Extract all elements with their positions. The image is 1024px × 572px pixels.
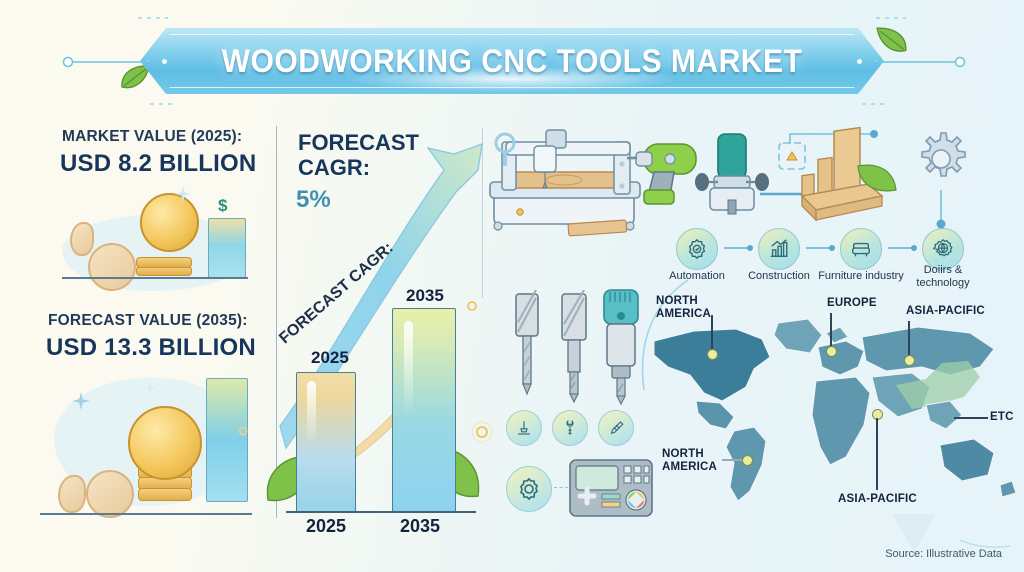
bar-label-2035: 2035 [406, 286, 444, 306]
app-arrow-2 [806, 247, 834, 249]
gear-icon [236, 424, 250, 438]
end-mill-bit-icon [508, 290, 548, 410]
currency-symbol: $ [218, 196, 227, 216]
gear-icon [492, 130, 518, 170]
world-map: NORTH AMERICA EUROPE ASIA-PACIFIC ETC NO… [650, 305, 1024, 520]
forecast-value-amount: USD 13.3 BILLION [46, 334, 256, 362]
cordless-drill-icon [624, 128, 704, 212]
connector-dash [554, 487, 568, 488]
map-label-etc: ETC [990, 411, 1014, 424]
pin-line-asia-pacific-bottom [876, 418, 878, 490]
axis-2025 [62, 277, 248, 279]
connector-line [932, 190, 952, 232]
app-arrow-1 [724, 247, 752, 249]
pin-north-america-bottom[interactable] [742, 455, 753, 466]
pin-asia-pacific-top[interactable] [904, 355, 915, 366]
map-label-europe: EUROPE [827, 297, 877, 310]
pin-line-asia-pacific-top [908, 321, 910, 357]
infographic-canvas: WOODWORKING CNC TOOLS MARKET MARKET VALU… [0, 0, 1024, 572]
chart-axis [286, 511, 476, 513]
wood-router-icon [694, 128, 770, 220]
map-label-asia-pacific-bottom: ASIA-PACIFIC [838, 493, 917, 506]
market-value-amount: USD 8.2 BILLION [60, 150, 256, 178]
title-banner: WOODWORKING CNC TOOLS MARKET [140, 28, 884, 94]
furniture-industry-label: Furniture industry [816, 270, 906, 283]
construction-label: Construction [734, 270, 824, 283]
world-map-shapes [650, 305, 1024, 520]
bar-2025 [296, 372, 356, 513]
forecast-value-label: FORECAST VALUE (2035): [48, 312, 248, 330]
spiral-bit-icon [554, 290, 596, 410]
pin-line-europe [830, 313, 832, 348]
map-label-north-america-bottom: NORTH AMERICA [662, 448, 720, 474]
pin-line-north-america [711, 315, 713, 351]
chisel-icon[interactable] [506, 410, 542, 446]
bar-label-2025: 2025 [311, 348, 349, 368]
pin-europe[interactable] [826, 346, 837, 357]
automation-icon[interactable] [676, 228, 718, 270]
leaf-icon [856, 160, 898, 194]
wrench-icon[interactable] [552, 410, 588, 446]
glow-dot-icon [462, 296, 486, 320]
sparkle-icon [72, 392, 90, 410]
cnc-control-panel-icon [568, 458, 654, 518]
sparkle-icon [175, 186, 191, 202]
pin-line-etc [954, 417, 988, 419]
gear-icon [912, 130, 970, 188]
tick-2035: 2035 [400, 516, 440, 537]
gear-icon[interactable] [506, 466, 552, 512]
bar-2035 [392, 308, 456, 513]
pin-line-north-america-bottom [722, 459, 742, 461]
tick-2025: 2025 [306, 516, 346, 537]
doors-technology-label: Doiirs & technology [898, 264, 988, 290]
page-title: WOODWORKING CNC TOOLS MARKET [162, 28, 861, 94]
map-label-north-america-top: NORTH AMERICA [656, 295, 714, 321]
construction-icon[interactable] [758, 228, 800, 270]
furniture-industry-icon[interactable] [840, 228, 882, 270]
axis-2035 [40, 513, 252, 515]
file-tool-icon[interactable] [598, 410, 634, 446]
app-arrow-3 [888, 247, 916, 249]
map-label-asia-pacific-top: ASIA-PACIFIC [906, 305, 985, 318]
source-credit: Source: Illustrative Data [885, 548, 1002, 560]
pin-north-america[interactable] [707, 349, 718, 360]
glow-dot-icon [468, 418, 496, 446]
market-value-label: MARKET VALUE (2025): [62, 128, 242, 146]
sparkle-icon [144, 382, 156, 394]
